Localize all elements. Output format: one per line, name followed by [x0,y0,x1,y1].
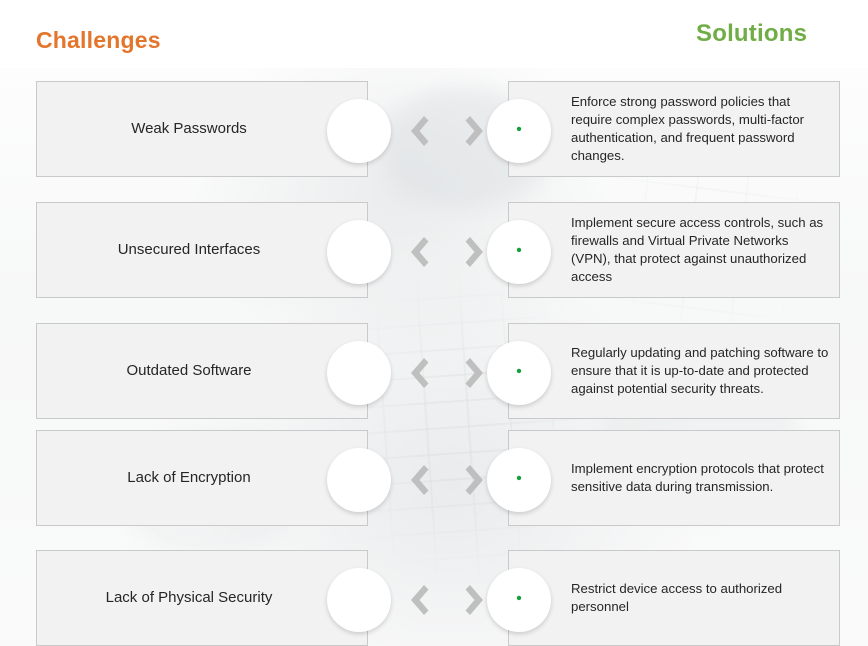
solution-box[interactable]: Implement secure access controls, such a… [508,202,840,298]
table-row: Weak Passwords [0,81,868,177]
solution-label: Implement encryption protocols that prot… [571,460,829,496]
challenge-box[interactable]: Unsecured Interfaces [36,202,368,298]
page-title-solutions: Solutions [696,20,807,48]
table-row: Lack of Encryption [0,430,868,526]
lightbulb-idea-icon [493,347,545,399]
challenge-label: Weak Passwords [131,120,247,139]
warning-triangle-icon [333,454,385,506]
warning-triangle-icon [333,105,385,157]
header-band: Challenges Solutions [0,0,868,68]
solution-label: Regularly updating and patching software… [571,344,829,397]
lightbulb-idea-icon [493,454,545,506]
direction-chevrons [404,113,490,149]
comparison-rows: Weak Passwords [0,0,868,646]
page-title-challenges: Challenges [36,27,161,54]
direction-chevrons [404,582,490,618]
solution-label: Implement secure access controls, such a… [571,214,829,285]
challenge-box[interactable]: Lack of Encryption [36,430,368,526]
lightbulb-idea-icon [493,226,545,278]
chevron-left-icon [404,114,430,148]
chevron-left-icon [404,356,430,390]
warning-triangle-icon [333,347,385,399]
warning-triangle-icon [333,574,385,626]
warning-triangle-icon [333,226,385,278]
challenge-box[interactable]: Outdated Software [36,323,368,419]
direction-chevrons [404,234,490,270]
direction-chevrons [404,462,490,498]
chevron-left-icon [404,235,430,269]
table-row: Outdated Software [0,323,868,419]
slide-canvas: Challenges Solutions Weak Passwords [0,0,868,646]
chevron-left-icon [404,583,430,617]
challenge-label: Lack of Encryption [127,469,250,488]
lightbulb-idea-icon [493,574,545,626]
table-row: Lack of Physical Security [0,550,868,646]
challenge-box[interactable]: Weak Passwords [36,81,368,177]
direction-chevrons [404,355,490,391]
challenge-label: Unsecured Interfaces [118,241,261,260]
solution-box[interactable]: Restrict device access to authorized per… [508,550,840,646]
solution-label: Restrict device access to authorized per… [571,580,829,616]
challenge-label: Lack of Physical Security [106,589,273,608]
solution-box[interactable]: Implement encryption protocols that prot… [508,430,840,526]
chevron-left-icon [404,463,430,497]
solution-label: Enforce strong password policies that re… [571,93,829,164]
solution-box[interactable]: Enforce strong password policies that re… [508,81,840,177]
challenge-label: Outdated Software [126,362,251,381]
lightbulb-idea-icon [493,105,545,157]
challenge-box[interactable]: Lack of Physical Security [36,550,368,646]
table-row: Unsecured Interfaces [0,202,868,298]
solution-box[interactable]: Regularly updating and patching software… [508,323,840,419]
